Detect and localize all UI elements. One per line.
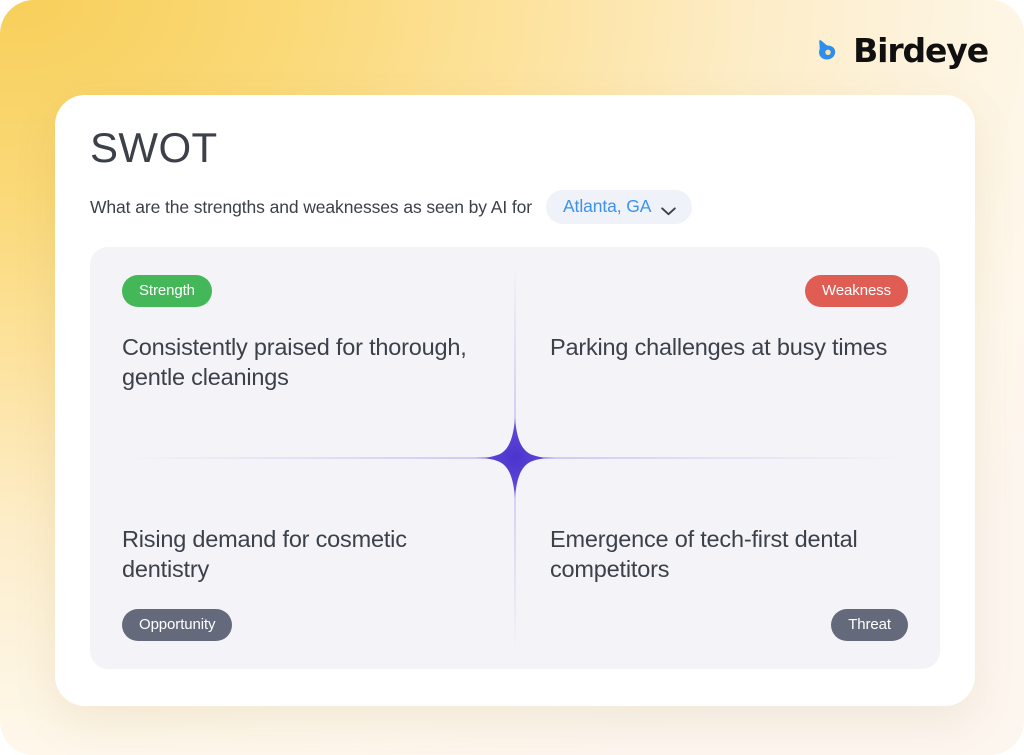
subtitle-text: What are the strengths and weaknesses as… — [90, 197, 532, 218]
quadrant-text-strength: Consistently praised for thorough, gentl… — [122, 332, 483, 392]
status-badge-weakness: Weakness — [805, 275, 908, 307]
swot-card: SWOT What are the strengths and weakness… — [55, 95, 975, 706]
swot-quadrant-panel: Strength Consistently praised for thorou… — [90, 247, 940, 669]
quadrant-opportunity: Rising demand for cosmetic dentistry Opp… — [90, 458, 515, 669]
chevron-down-icon — [661, 203, 676, 212]
quadrant-text-opportunity: Rising demand for cosmetic dentistry — [122, 524, 483, 584]
sparkle-star-icon — [473, 416, 557, 500]
birdeye-bird-icon — [812, 35, 844, 67]
status-badge-strength: Strength — [122, 275, 212, 307]
status-badge-threat: Threat — [831, 609, 908, 641]
quadrant-strength: Strength Consistently praised for thorou… — [90, 247, 515, 458]
quadrant-threat: Emergence of tech-first dental competito… — [515, 458, 940, 669]
page-title: SWOT — [90, 127, 218, 169]
birdeye-wordmark: Birdeye — [853, 34, 988, 67]
location-filter-value: Atlanta, GA — [563, 196, 651, 217]
quadrant-weakness: Weakness Parking challenges at busy time… — [515, 247, 940, 458]
status-badge-opportunity: Opportunity — [122, 609, 232, 641]
page-root: Birdeye SWOT What are the strengths and … — [0, 0, 1024, 755]
subtitle-row: What are the strengths and weaknesses as… — [90, 192, 692, 222]
quadrant-text-threat: Emergence of tech-first dental competito… — [547, 524, 908, 584]
location-filter-dropdown[interactable]: Atlanta, GA — [546, 190, 692, 224]
quadrant-text-weakness: Parking challenges at busy times — [547, 332, 908, 362]
birdeye-logo: Birdeye — [812, 28, 988, 72]
